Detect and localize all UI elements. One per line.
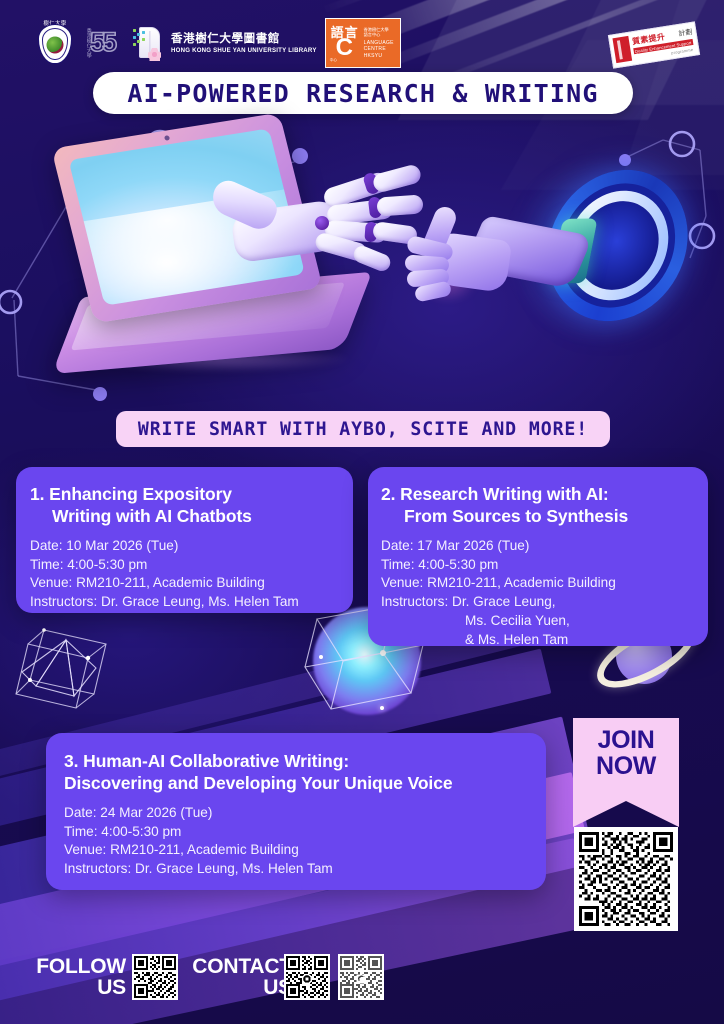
whatsapp-qr-code[interactable] [284, 954, 330, 1000]
contact-us-line1: CONTACT [192, 955, 292, 978]
language-centre-logo: 語 言 C 中心 香港樹仁大學 語言中心 LANGUAGE CENTRE HKS… [325, 18, 401, 68]
lc-letter-c: C [336, 36, 353, 60]
hksyu-crest-logo: 樹仁大學 [34, 20, 76, 66]
registration-qr-code[interactable] [574, 827, 678, 931]
session-1-details: Date: 10 Mar 2026 (Tue) Time: 4:00-5:30 … [30, 537, 338, 612]
lc-side-cn-2: 語言中心 [364, 32, 394, 37]
session-1-title-line2: Writing with AI Chatbots [30, 505, 338, 527]
session-card-3[interactable]: 3. Human-AI Collaborative Writing: Disco… [46, 733, 546, 890]
session-card-2[interactable]: 2. Research Writing with AI: From Source… [368, 467, 708, 646]
footer: FOLLOW US [0, 928, 724, 1024]
wechat-qr-image [340, 956, 382, 998]
join-now-banner[interactable]: JOIN NOW [573, 718, 679, 801]
session-2-details: Date: 17 Mar 2026 (Tue) Time: 4:00-5:30 … [381, 537, 695, 650]
follow-us-line2: US [97, 976, 126, 999]
session-1-instructors: Instructors: Dr. Grace Leung, Ms. Helen … [30, 593, 338, 612]
hksyu-library-logo: 香港樹仁大學圖書館 HONG KONG SHUE YAN UNIVERSITY … [132, 25, 317, 61]
session-1-time: Time: 4:00-5:30 pm [30, 556, 338, 575]
follow-us-line1: FOLLOW [36, 955, 126, 978]
session-3-title: 3. Human-AI Collaborative Writing: Disco… [64, 750, 528, 795]
follow-us-qr-code[interactable] [132, 954, 178, 1000]
session-card-1[interactable]: 1. Enhancing Expository Writing with AI … [16, 467, 353, 613]
session-1-title-line1: 1. Enhancing Expository [30, 484, 232, 504]
session-3-title-line1: 3. Human-AI Collaborative Writing: [64, 751, 349, 771]
library-flower-icon [148, 48, 161, 61]
poster-subtitle-banner: WRITE SMART WITH AYBO, SCITE AND MORE! [116, 411, 610, 447]
join-now-line2: NOW [596, 752, 656, 780]
session-2-instructors-line2: Ms. Cecilia Yuen, [381, 612, 695, 631]
lc-tiny-cn: 中心 [330, 58, 338, 63]
session-2-time: Time: 4:00-5:30 pm [381, 556, 695, 575]
anniversary-number: 55 [90, 27, 114, 58]
contact-us-label: CONTACT US [180, 956, 292, 999]
wireframe-cube-with-pyramids-decoration [14, 614, 122, 718]
session-3-details: Date: 24 Mar 2026 (Tue) Time: 4:00-5:30 … [64, 804, 528, 879]
follow-us-label: FOLLOW US [22, 956, 126, 999]
session-2-venue: Venue: RM210-211, Academic Building [381, 574, 695, 593]
session-3-date: Date: 24 Mar 2026 (Tue) [64, 804, 528, 823]
session-1-title: 1. Enhancing Expository Writing with AI … [30, 483, 338, 528]
session-1-date: Date: 10 Mar 2026 (Tue) [30, 537, 338, 556]
robot-hand-from-screen [215, 170, 415, 300]
session-3-time: Time: 4:00-5:30 pm [64, 823, 528, 842]
library-cn-name: 香港樹仁大學圖書館 [171, 32, 317, 45]
session-3-title-line2: Discovering and Developing Your Unique V… [64, 772, 528, 794]
poster-subtitle: WRITE SMART WITH AYBO, SCITE AND MORE! [138, 419, 588, 440]
session-2-title-line1: 2. Research Writing with AI: [381, 484, 609, 504]
session-1-venue: Venue: RM210-211, Academic Building [30, 574, 338, 593]
session-2-instructors-line3: & Ms. Helen Tam [381, 631, 695, 650]
session-2-instructors: Instructors: Dr. Grace Leung, [381, 593, 695, 612]
anniversary-55-logo: 香港樹仁大學 55 [84, 23, 124, 63]
library-book-icon [132, 25, 165, 61]
whatsapp-qr-image [286, 956, 328, 998]
follow-us-qr-image [134, 956, 176, 998]
wechat-qr-code[interactable] [338, 954, 384, 1000]
session-3-venue: Venue: RM210-211, Academic Building [64, 841, 528, 860]
logo-bar: 樹仁大學 香港樹仁大學 55 香港樹仁大學圖書館 HONG KONG SHUE … [34, 18, 401, 68]
lc-en-3: HKSYU [364, 53, 394, 59]
session-2-title: 2. Research Writing with AI: From Source… [381, 483, 695, 528]
robot-hand-from-portal [405, 196, 585, 321]
quality-enhancement-logo: 質素提升 計劃 Quality Enhancement Support Sche… [608, 21, 700, 68]
join-now-line1: JOIN [598, 726, 655, 754]
hero-illustration [0, 118, 724, 408]
session-3-instructors: Instructors: Dr. Grace Leung, Ms. Helen … [64, 860, 528, 879]
join-now-cta[interactable]: JOIN NOW [573, 718, 679, 801]
poster-title-banner: AI-POWERED RESEARCH & WRITING [93, 72, 633, 114]
join-now-label: JOIN NOW [573, 728, 679, 779]
registration-qr-image [579, 832, 673, 926]
page-title: AI-POWERED RESEARCH & WRITING [127, 79, 598, 108]
session-2-title-line2: From Sources to Synthesis [381, 505, 695, 527]
session-2-date: Date: 17 Mar 2026 (Tue) [381, 537, 695, 556]
poster-canvas: 樹仁大學 香港樹仁大學 55 香港樹仁大學圖書館 HONG KONG SHUE … [0, 0, 724, 1024]
library-en-name: HONG KONG SHUE YAN UNIVERSITY LIBRARY [171, 47, 317, 54]
